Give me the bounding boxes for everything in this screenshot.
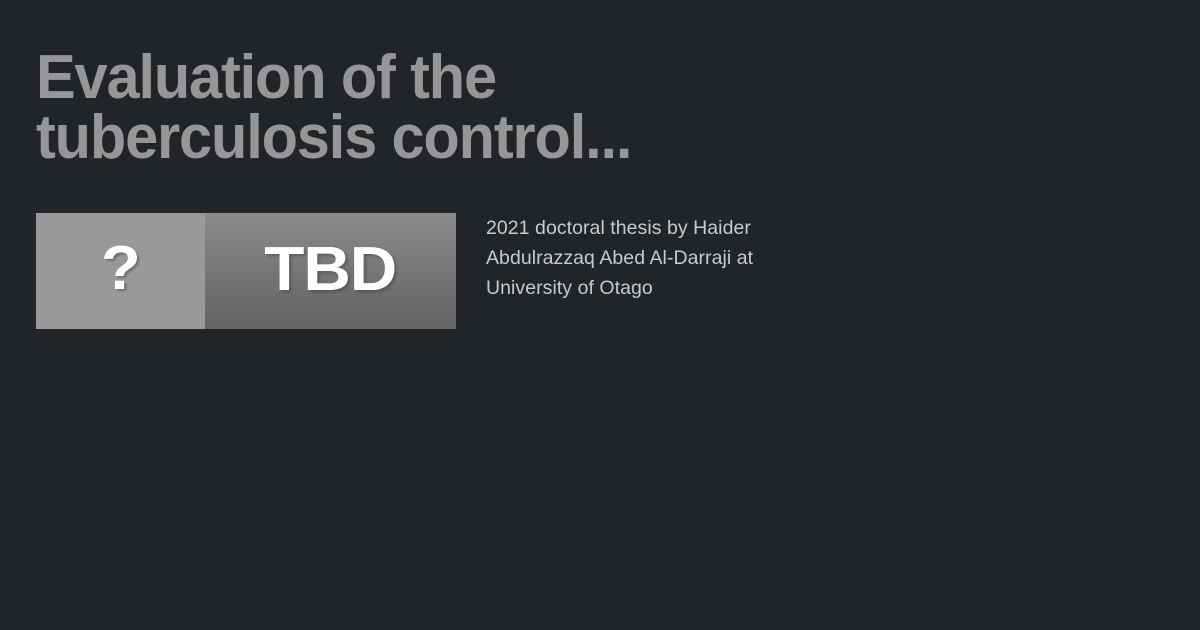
- description-line-1: 2021 doctoral thesis by Haider: [486, 213, 816, 243]
- page-title-line-1: Evaluation of the: [36, 48, 804, 108]
- card-body: ? TBD 2021 doctoral thesis by Haider Abd…: [36, 213, 1166, 329]
- page-title: Evaluation of the tuberculosis control..…: [36, 48, 836, 168]
- thesis-cover-thumbnail: ? TBD: [36, 213, 456, 329]
- thesis-description: 2021 doctoral thesis by Haider Abdulrazz…: [486, 213, 816, 303]
- tbd-label: TBD: [265, 239, 397, 301]
- description-line-3: University of Otago: [486, 273, 816, 303]
- thumbnail-placeholder-panel: ?: [36, 213, 205, 329]
- question-mark-icon: ?: [101, 238, 141, 300]
- description-line-2: Abdulrazzaq Abed Al-Darraji at: [486, 243, 816, 273]
- page-title-line-2: tuberculosis control...: [36, 108, 804, 168]
- thumbnail-tbd-panel: TBD: [205, 213, 456, 329]
- open-graph-preview-card: Evaluation of the tuberculosis control..…: [0, 0, 1200, 630]
